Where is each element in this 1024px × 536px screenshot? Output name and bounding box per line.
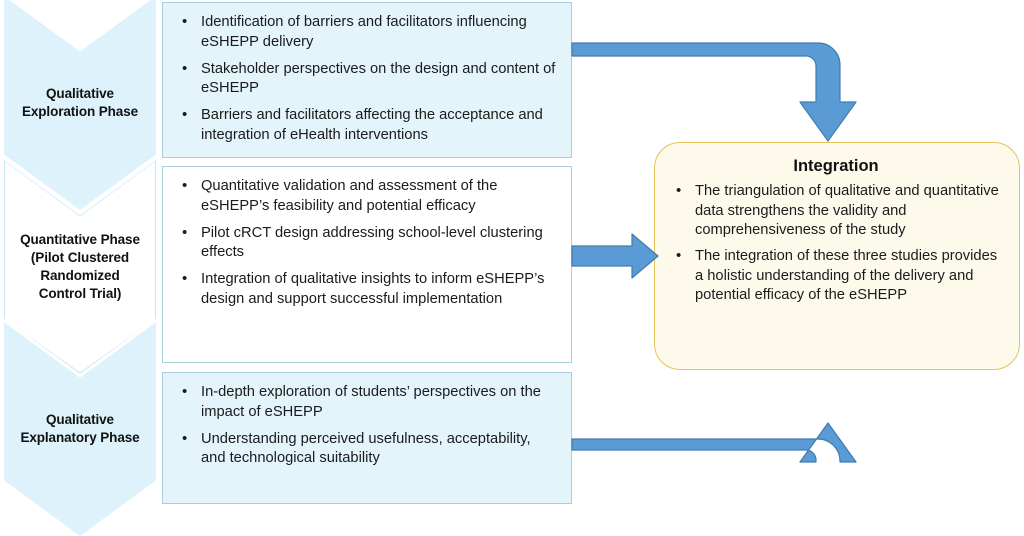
chevron-3-label: Qualitative Explanatory Phase bbox=[16, 411, 143, 447]
list-item: Quantitative validation and assessment o… bbox=[179, 177, 557, 217]
arrow-phase1-to-integration bbox=[572, 43, 856, 141]
integration-title: Integration bbox=[673, 157, 999, 176]
chevron-2-label: Quantitative Phase (Pilot Clustered Rand… bbox=[16, 231, 144, 302]
arrow-phase2-to-integration bbox=[572, 234, 658, 278]
phase-2-bullet-list: Quantitative validation and assessment o… bbox=[179, 177, 557, 310]
phase-2-content-box: Quantitative validation and assessment o… bbox=[162, 166, 572, 363]
list-item: In-depth exploration of students’ perspe… bbox=[179, 383, 557, 423]
phase-chevron-column: Qualitative Exploration Phase Quantitati… bbox=[0, 0, 160, 530]
chevron-2-label-line-3: Randomized bbox=[20, 267, 140, 285]
phase-3-content-box: In-depth exploration of students’ perspe… bbox=[162, 372, 572, 504]
chevron-3-label-line-2: Explanatory Phase bbox=[20, 429, 139, 447]
integration-bullet-list: The triangulation of qualitative and qua… bbox=[673, 182, 999, 306]
list-item: Integration of qualitative insights to i… bbox=[179, 270, 557, 310]
chevron-2-label-line-2: (Pilot Clustered bbox=[20, 249, 140, 267]
phase-3-bullet-list: In-depth exploration of students’ perspe… bbox=[179, 383, 557, 469]
list-item: Barriers and facilitators affecting the … bbox=[179, 106, 557, 146]
list-item: Understanding perceived usefulness, acce… bbox=[179, 430, 557, 470]
arrow-phase3-to-integration bbox=[572, 423, 856, 462]
phase-1-content-box: Identification of barriers and facilitat… bbox=[162, 2, 572, 158]
list-item: Identification of barriers and facilitat… bbox=[179, 13, 557, 53]
phase-1-bullet-list: Identification of barriers and facilitat… bbox=[179, 13, 557, 146]
list-item: Stakeholder perspectives on the design a… bbox=[179, 60, 557, 100]
list-item: The integration of these three studies p… bbox=[673, 247, 999, 306]
chevron-2-label-line-1: Quantitative Phase bbox=[20, 231, 140, 249]
list-item: The triangulation of qualitative and qua… bbox=[673, 182, 999, 241]
chevron-1-label-line-2: Exploration Phase bbox=[22, 103, 138, 121]
integration-box: Integration The triangulation of qualita… bbox=[654, 142, 1020, 370]
chevron-3-label-line-1: Qualitative bbox=[20, 411, 139, 429]
chevron-1-label: Qualitative Exploration Phase bbox=[18, 85, 142, 121]
chevron-2-label-line-4: Control Trial) bbox=[20, 285, 140, 303]
chevron-1-label-line-1: Qualitative bbox=[22, 85, 138, 103]
list-item: Pilot cRCT design addressing school-leve… bbox=[179, 224, 557, 264]
